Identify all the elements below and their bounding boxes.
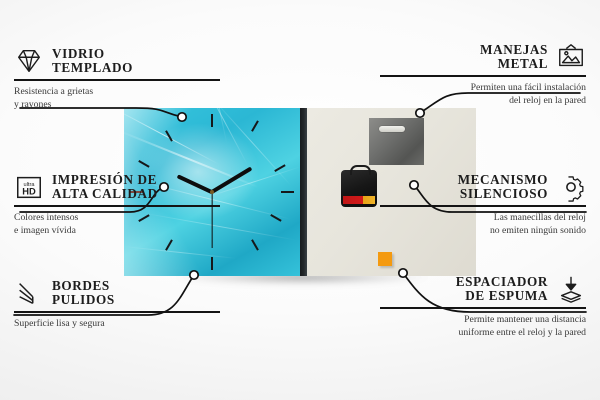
clock-side-edge <box>300 108 307 276</box>
hanger-keyhole-slot <box>379 126 405 132</box>
callout-subtitle: Colores intensos e imagen vívida <box>14 211 220 237</box>
callout-vidrio-templado: VIDRIO TEMPLADO Resistencia a grietas y … <box>14 46 220 111</box>
callout-title-line1: IMPRESIÓN DE <box>52 173 158 187</box>
clock-second-hand <box>211 192 212 248</box>
callout-title-line2: SILENCIOSO <box>458 187 548 201</box>
picture-hanger-icon <box>556 42 586 72</box>
infographic-canvas: VIDRIO TEMPLADO Resistencia a grietas y … <box>0 0 600 400</box>
mechanism-loop <box>350 165 371 175</box>
gear-icon <box>556 172 586 202</box>
callout-espaciador-espuma: ESPACIADOR DE ESPUMA Permite mantener un… <box>380 274 586 339</box>
clock-mechanism-box <box>341 170 377 207</box>
foam-spacer-icon <box>556 274 586 304</box>
callout-title-line2: METAL <box>480 57 548 71</box>
callout-subtitle: Permite mantener una distancia uniforme … <box>380 313 586 339</box>
callout-rule <box>14 311 220 313</box>
polished-edges-icon <box>14 278 44 308</box>
callout-subtitle: Superficie lisa y segura <box>14 317 220 330</box>
foam-spacer-pad <box>378 252 392 266</box>
callout-title-line2: TEMPLADO <box>52 61 133 75</box>
mechanism-label-strip <box>343 196 375 204</box>
callout-title-line1: MECANISMO <box>458 173 548 187</box>
callout-rule <box>380 75 586 77</box>
callout-title-line1: MANEJAS <box>480 43 548 57</box>
callout-rule <box>380 205 586 207</box>
callout-rule <box>14 79 220 81</box>
callout-rule <box>380 307 586 309</box>
callout-bordes-pulidos: BORDES PULIDOS Superficie lisa y segura <box>14 278 220 330</box>
callout-subtitle: Las manecillas del reloj no emiten ningú… <box>380 211 586 237</box>
diamond-icon <box>14 46 44 76</box>
callout-title-line1: VIDRIO <box>52 47 133 61</box>
callout-title-line1: ESPACIADOR <box>456 275 548 289</box>
callout-subtitle: Resistencia a grietas y rayones <box>14 85 220 111</box>
svg-text:HD: HD <box>22 187 36 197</box>
callout-rule <box>14 205 220 207</box>
callout-manejas-metal: MANEJAS METAL Permiten una fácil instala… <box>380 42 586 107</box>
callout-mecanismo-silencioso: MECANISMO SILENCIOSO Las manecillas del … <box>380 172 586 237</box>
callout-title-line1: BORDES <box>52 279 115 293</box>
callout-title-line2: PULIDOS <box>52 293 115 307</box>
ultra-hd-icon: ultra HD <box>14 172 44 202</box>
callout-subtitle: Permiten una fácil instalación del reloj… <box>380 81 586 107</box>
clock-center-hub <box>210 190 214 194</box>
callout-title-line2: DE ESPUMA <box>456 289 548 303</box>
callout-title-line2: ALTA CALIDAD <box>52 187 158 201</box>
metal-hanger-plate <box>369 118 424 165</box>
